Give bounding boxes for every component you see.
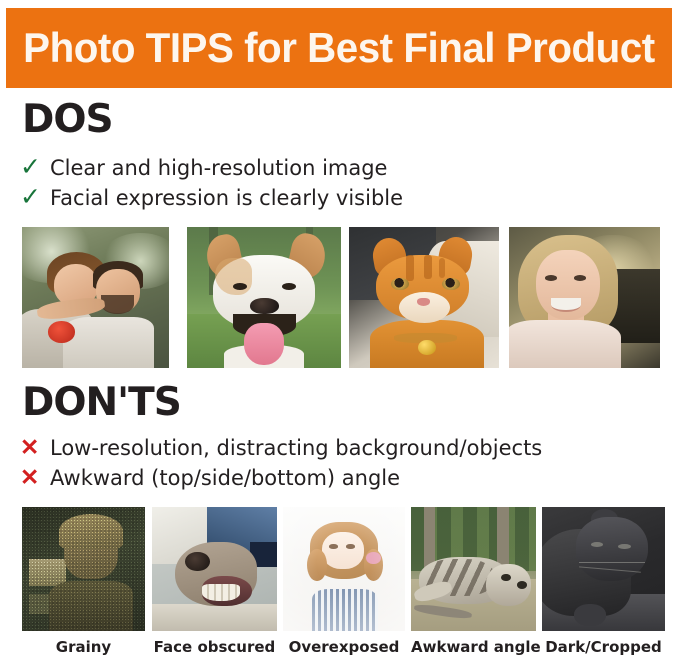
caption-face-obscured: Face obscured: [152, 638, 277, 656]
photo-face-obscured-dog: [152, 507, 277, 631]
photo-smiling-woman: [509, 227, 660, 368]
dos-list-item: ✓ Clear and high-resolution image: [20, 152, 403, 182]
photo-detail: [509, 320, 621, 368]
photo-detail: [574, 275, 586, 281]
photo-tips-page: Photo TIPS for Best Final Product DOS ✓ …: [0, 0, 679, 663]
photo-detail: [63, 317, 154, 368]
photo-couple-smiling-outdoors: [22, 227, 169, 368]
caption-dark-cropped: Dark/Cropped: [542, 638, 665, 656]
photo-overexposure-overlay: [283, 507, 405, 631]
photo-detail: [439, 258, 445, 278]
header-banner: Photo TIPS for Best Final Product: [6, 8, 672, 88]
photo-detail: [417, 298, 431, 306]
check-icon: ✓: [20, 182, 50, 212]
dos-item-label: Clear and high-resolution image: [50, 153, 387, 183]
photo-orange-cat: [349, 227, 499, 368]
photo-detail: [545, 275, 557, 281]
caption-awkward-angle: Awkward angle: [411, 638, 536, 656]
donts-list-item: ✕ Awkward (top/side/bottom) angle: [20, 462, 542, 492]
donts-item-label: Low-resolution, distracting background/o…: [50, 433, 542, 463]
photo-detail: [202, 584, 240, 601]
check-icon: ✓: [20, 152, 50, 182]
caption-overexposed: Overexposed: [283, 638, 405, 656]
photo-detail: [101, 295, 133, 315]
photo-detail: [48, 321, 74, 342]
photo-detail: [152, 604, 277, 631]
donts-list: ✕ Low-resolution, distracting background…: [20, 432, 542, 492]
donts-item-label: Awkward (top/side/bottom) angle: [50, 463, 400, 493]
dos-list-item: ✓ Facial expression is clearly visible: [20, 182, 403, 212]
photo-detail: [591, 542, 603, 547]
dos-item-label: Facial expression is clearly visible: [50, 183, 403, 213]
caption-grainy: Grainy: [22, 638, 145, 656]
photo-detail: [517, 581, 527, 588]
donts-photo-row: [22, 507, 665, 631]
dos-list: ✓ Clear and high-resolution image ✓ Faci…: [20, 152, 403, 212]
photo-detail: [250, 298, 279, 315]
photo-happy-dog: [187, 227, 341, 368]
photo-overexposed-girl: [283, 507, 405, 631]
cross-icon: ✕: [20, 432, 50, 462]
photo-detail: [215, 258, 252, 295]
photo-dark-cropped-cat: [542, 507, 665, 631]
dos-photo-row: [22, 227, 660, 368]
photo-detail: [574, 604, 606, 626]
photo-awkward-angle-cat: [411, 507, 536, 631]
photo-detail: [618, 544, 630, 549]
photo-detail: [424, 255, 432, 279]
cross-icon: ✕: [20, 462, 50, 492]
photo-detail: [406, 255, 414, 280]
photo-grain-overlay: [22, 507, 145, 631]
photo-detail: [185, 552, 210, 572]
photo-detail: [244, 323, 284, 365]
photo-detail: [579, 562, 645, 563]
donts-heading: DON'TS: [22, 383, 181, 422]
donts-list-item: ✕ Low-resolution, distracting background…: [20, 432, 542, 462]
photo-detail: [399, 292, 450, 323]
photo-grainy-boy: [22, 507, 145, 631]
page-title: Photo TIPS for Best Final Product: [23, 27, 655, 69]
dos-heading: DOS: [22, 100, 113, 139]
